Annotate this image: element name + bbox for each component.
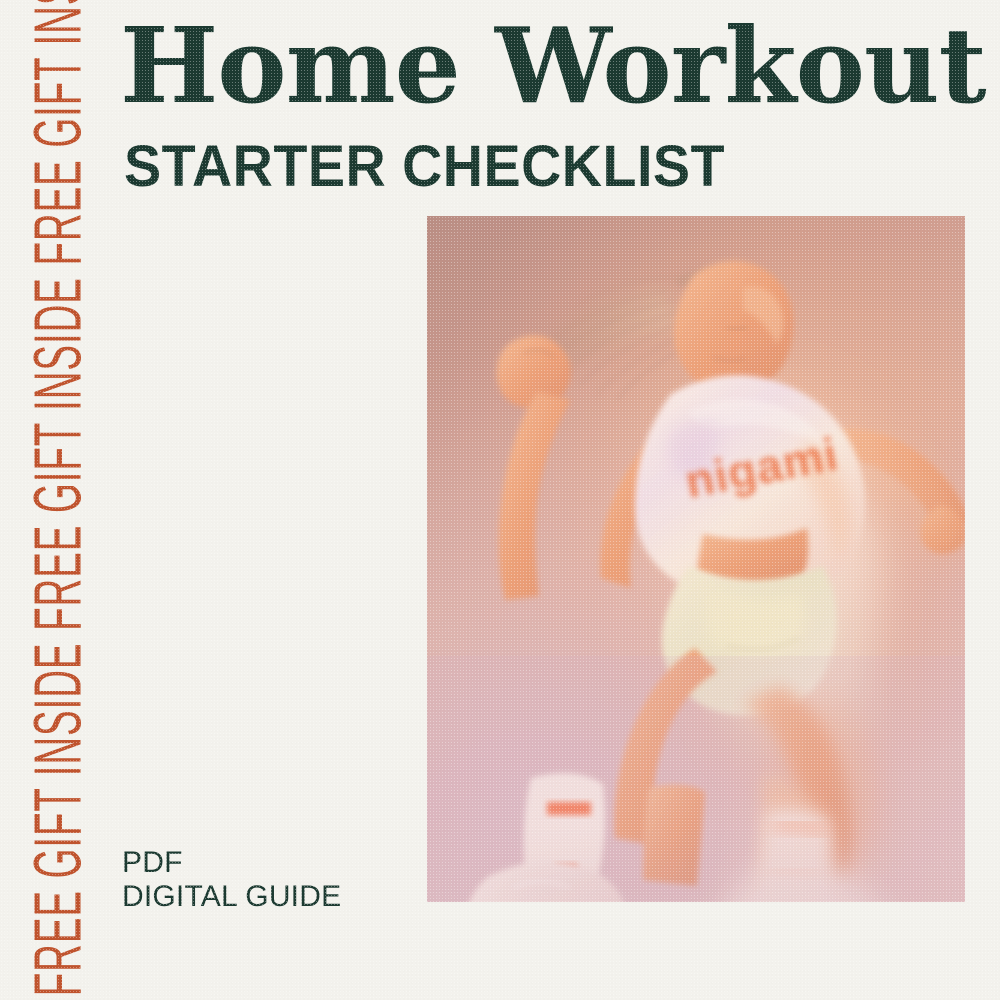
poster-canvas: FREE GIFT INSIDE FREE GIFT INSIDE FREE G… — [0, 0, 1000, 1000]
vertical-marquee-text: FREE GIFT INSIDE FREE GIFT INSIDE FREE G… — [26, 0, 93, 1000]
caption-line-pdf: PDF — [122, 846, 341, 880]
vertical-marquee-inner: FREE GIFT INSIDE FREE GIFT INSIDE FREE G… — [0, 0, 118, 1000]
hero-photo: nigami — [427, 216, 965, 902]
headline-block: Home Workout STARTER CHECKLIST — [120, 18, 986, 196]
caption-line-digital-guide: DIGITAL GUIDE — [122, 880, 341, 914]
vertical-marquee: FREE GIFT INSIDE FREE GIFT INSIDE FREE G… — [0, 0, 118, 1000]
page-subtitle: STARTER CHECKLIST — [124, 138, 951, 196]
hero-photo-illustration: nigami — [427, 216, 965, 902]
page-title: Home Workout — [120, 18, 986, 114]
format-caption: PDF DIGITAL GUIDE — [122, 846, 341, 913]
